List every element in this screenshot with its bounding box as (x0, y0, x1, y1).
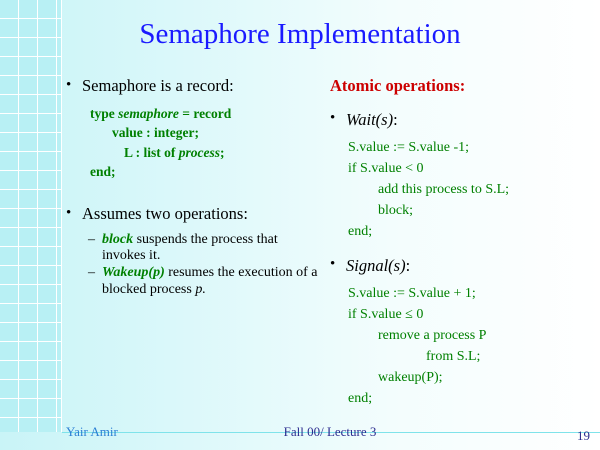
bullet-item-semaphore-record: • Semaphore is a record: (66, 76, 324, 97)
code-line-value-field: value : integer; (112, 123, 324, 143)
bullet-label: Semaphore is a record: (82, 76, 324, 97)
code-identifier-process: process (179, 145, 220, 160)
sub-item-tail: p. (195, 282, 206, 297)
signal-code-line-5: wakeup(P); (378, 367, 592, 388)
code-line-list-field: L : list of process; (124, 143, 324, 163)
term-wakeup: Wakeup(p) (102, 265, 165, 280)
section-heading-atomic-operations: Atomic operations: (330, 76, 592, 96)
decorative-grid-strip (0, 0, 62, 432)
page-title: Semaphore Implementation (0, 18, 600, 51)
bullet-item-two-operations: • Assumes two operations: (66, 204, 324, 225)
wait-code-line-2: if S.value < 0 (348, 158, 592, 179)
signal-code-line-1: S.value := S.value + 1; (348, 283, 592, 304)
operation-colon: : (393, 110, 398, 130)
dash-icon: – (88, 265, 102, 282)
footer-page-number: 19 (556, 428, 590, 444)
dash-icon: – (88, 232, 102, 249)
operation-signal: • Signal(s): (330, 256, 592, 276)
signal-code-line-2: if S.value ≤ 0 (348, 304, 592, 325)
code-list-suffix: ; (220, 145, 225, 160)
signal-code-line-3-text: remove a process P (378, 328, 486, 343)
signal-code-line-6: end; (348, 388, 592, 409)
bullet-dot-icon: • (330, 256, 346, 273)
left-column: • Semaphore is a record: type semaphore … (66, 76, 324, 299)
footer-course-info: Fall 00/ Lecture 3 (200, 424, 460, 440)
code-keyword-type: type (90, 106, 115, 121)
code-identifier-semaphore: semaphore (118, 106, 179, 121)
wait-code-line-3: add this process to S.L; (378, 179, 592, 200)
slide: Semaphore Implementation • Semaphore is … (0, 0, 600, 450)
wait-code-line-5: end; (348, 221, 592, 242)
right-column: Atomic operations: • Wait(s): S.value :=… (330, 76, 592, 409)
operation-name-signal: Signal(s) (346, 256, 406, 276)
footer-author: Yair Amir (66, 424, 118, 440)
code-record-keyword: = record (182, 106, 231, 121)
sub-item-text: block suspends the process that invokes … (102, 232, 324, 266)
code-line-end: end; (90, 162, 324, 182)
term-block: block (102, 232, 133, 247)
signal-code-line-3: remove a process P (378, 325, 592, 346)
operation-name-wait: Wait(s) (346, 110, 393, 130)
sub-item-wakeup: – Wakeup(p) resumes the execution of a b… (88, 265, 324, 299)
sub-item-block: – block suspends the process that invoke… (88, 232, 324, 266)
signal-code-line-4: from S.L; (426, 346, 592, 367)
operation-wait: • Wait(s): (330, 110, 592, 130)
bullet-dot-icon: • (330, 110, 346, 127)
bullet-dot-icon: • (66, 204, 82, 223)
code-line-type-declaration: type semaphore = record (90, 104, 324, 124)
bullet-dot-icon: • (66, 76, 82, 95)
wait-code-line-4: block; (378, 200, 592, 221)
sub-item-text: Wakeup(p) resumes the execution of a blo… (102, 265, 324, 299)
bullet-label: Assumes two operations: (82, 204, 324, 225)
wait-code-line-1: S.value := S.value -1; (348, 137, 592, 158)
code-list-prefix: L : list of (124, 145, 175, 160)
operation-colon: : (406, 256, 411, 276)
